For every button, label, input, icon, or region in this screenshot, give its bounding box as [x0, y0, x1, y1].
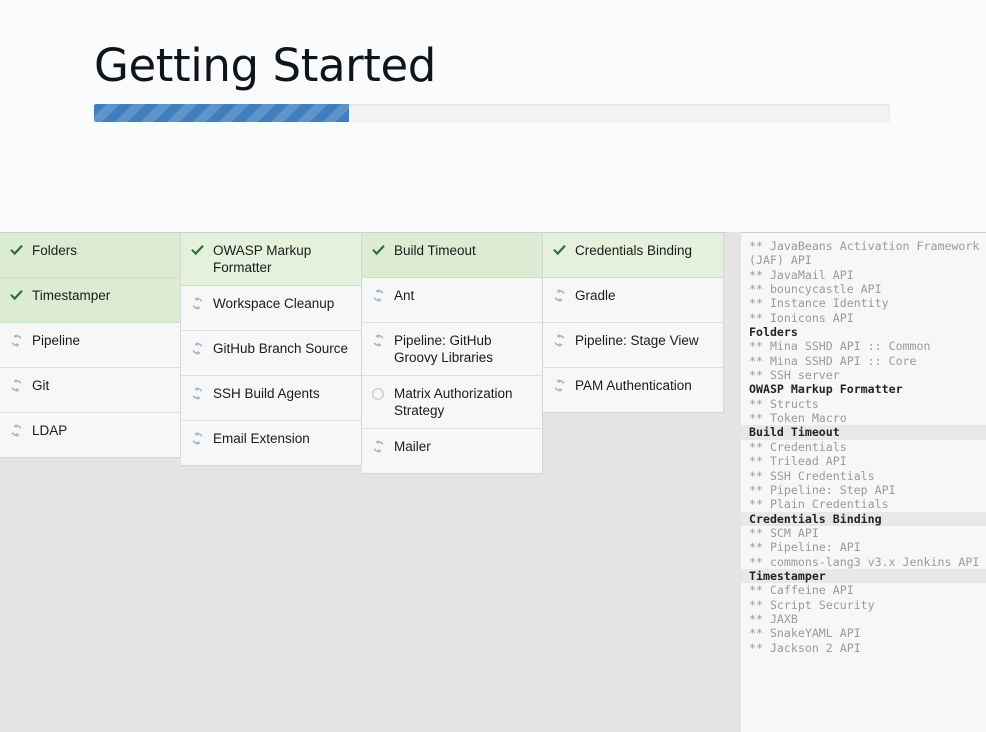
check-icon	[189, 242, 205, 259]
log-line: (JAF) API	[741, 253, 986, 267]
log-line: ** Script Security	[741, 598, 986, 612]
log-line: ** Pipeline: API	[741, 540, 986, 554]
plugin-name-label: Gradle	[575, 287, 713, 304]
plugin-name-label: Ant	[394, 287, 532, 304]
spinner-icon	[8, 332, 24, 349]
plugin-name-label: SSH Build Agents	[213, 385, 351, 402]
log-line: ** Caffeine API	[741, 583, 986, 597]
plugin-name-label: Timestamper	[32, 287, 170, 304]
log-line: Timestamper	[741, 569, 986, 583]
log-line: Credentials Binding	[741, 512, 986, 526]
plugin-cell: GitHub Branch Source	[181, 331, 361, 376]
plugin-name-label: Build Timeout	[394, 242, 532, 259]
plugin-name-label: Mailer	[394, 438, 532, 455]
log-line: ** Token Macro	[741, 411, 986, 425]
plugin-cell: Gradle	[543, 278, 723, 323]
spinner-icon	[189, 385, 205, 402]
plugin-name-label: Pipeline: Stage View	[575, 332, 713, 349]
plugin-cell: Pipeline: Stage View	[543, 323, 723, 368]
check-icon	[370, 242, 386, 259]
plugin-cell: Credentials Binding	[543, 233, 723, 278]
log-line: Build Timeout	[741, 425, 986, 439]
log-line: ** Plain Credentials	[741, 497, 986, 511]
spinner-icon	[8, 377, 24, 394]
log-line: ** Structs	[741, 397, 986, 411]
plugin-cell: LDAP	[0, 413, 180, 458]
plugin-cell: Email Extension	[181, 421, 361, 466]
plugin-cell: OWASP Markup Formatter	[181, 233, 361, 286]
spinner-icon	[551, 377, 567, 394]
plugin-column: OWASP Markup FormatterWorkspace CleanupG…	[181, 233, 362, 466]
spinner-icon	[551, 332, 567, 349]
log-line: ** SCM API	[741, 526, 986, 540]
log-line: Folders	[741, 325, 986, 339]
spinner-icon	[189, 295, 205, 312]
log-line: ** Instance Identity	[741, 296, 986, 310]
log-line: ** JAXB	[741, 612, 986, 626]
log-line: ** SnakeYAML API	[741, 626, 986, 640]
plugin-cell: Mailer	[362, 429, 542, 474]
log-line: OWASP Markup Formatter	[741, 382, 986, 396]
plugin-cell: Timestamper	[0, 278, 180, 323]
installation-log-panel[interactable]: ** JavaBeans Activation Framework(JAF) A…	[741, 232, 986, 732]
spinner-icon	[8, 422, 24, 439]
spinner-icon	[551, 287, 567, 304]
install-progress-fill	[94, 104, 349, 122]
plugin-column: FoldersTimestamperPipelineGitLDAP	[0, 233, 181, 458]
spinner-icon	[189, 340, 205, 357]
log-line: ** Jackson 2 API	[741, 641, 986, 655]
plugin-cell: Folders	[0, 233, 180, 278]
plugin-column: Credentials BindingGradlePipeline: Stage…	[543, 233, 724, 413]
log-line: ** Mina SSHD API :: Common	[741, 339, 986, 353]
page-header: Getting Started	[0, 0, 986, 232]
log-line: ** Trilead API	[741, 454, 986, 468]
log-line: ** commons-lang3 v3.x Jenkins API	[741, 555, 986, 569]
log-line: ** Mina SSHD API :: Core	[741, 354, 986, 368]
plugin-cell: Pipeline	[0, 323, 180, 368]
plugin-cell: Pipeline: GitHub Groovy Libraries	[362, 323, 542, 376]
check-icon	[8, 242, 24, 259]
plugin-cell: SSH Build Agents	[181, 376, 361, 421]
plugin-name-label: Folders	[32, 242, 170, 259]
plugin-name-label: Pipeline	[32, 332, 170, 349]
plugin-name-label: Matrix Authorization Strategy	[394, 385, 532, 419]
getting-started-page: Getting Started FoldersTimestamperPipeli…	[0, 0, 986, 732]
log-line: ** Ionicons API	[741, 311, 986, 325]
plugin-name-label: OWASP Markup Formatter	[213, 242, 351, 276]
plugin-cell: Git	[0, 368, 180, 413]
plugin-name-label: Pipeline: GitHub Groovy Libraries	[394, 332, 532, 366]
install-progress-bar	[94, 104, 890, 122]
plugin-name-label: Credentials Binding	[575, 242, 713, 259]
plugin-column: Build TimeoutAntPipeline: GitHub Groovy …	[362, 233, 543, 474]
plugin-name-label: Email Extension	[213, 430, 351, 447]
spinner-icon	[189, 430, 205, 447]
plugin-name-label: LDAP	[32, 422, 170, 439]
circle-pending-icon	[370, 385, 386, 402]
spinner-icon	[370, 332, 386, 349]
plugin-name-label: Git	[32, 377, 170, 394]
spinner-icon	[370, 438, 386, 455]
plugin-cell: Matrix Authorization Strategy	[362, 376, 542, 429]
page-title: Getting Started	[94, 38, 436, 94]
plugin-cell: Ant	[362, 278, 542, 323]
plugin-name-label: Workspace Cleanup	[213, 295, 351, 312]
plugin-cell: Workspace Cleanup	[181, 286, 361, 331]
log-line: ** JavaBeans Activation Framework	[741, 239, 986, 253]
log-line: ** Credentials	[741, 440, 986, 454]
plugin-status-grid: FoldersTimestamperPipelineGitLDAPOWASP M…	[0, 232, 727, 474]
plugin-cell: PAM Authentication	[543, 368, 723, 413]
plugin-name-label: PAM Authentication	[575, 377, 713, 394]
installation-body: FoldersTimestamperPipelineGitLDAPOWASP M…	[0, 232, 986, 732]
check-icon	[8, 287, 24, 304]
log-line: ** JavaMail API	[741, 268, 986, 282]
log-line: ** SSH server	[741, 368, 986, 382]
log-line: ** Pipeline: Step API	[741, 483, 986, 497]
plugin-cell: Build Timeout	[362, 233, 542, 278]
log-line: ** SSH Credentials	[741, 469, 986, 483]
check-icon	[551, 242, 567, 259]
plugin-name-label: GitHub Branch Source	[213, 340, 351, 357]
log-line: ** bouncycastle API	[741, 282, 986, 296]
spinner-icon	[370, 287, 386, 304]
